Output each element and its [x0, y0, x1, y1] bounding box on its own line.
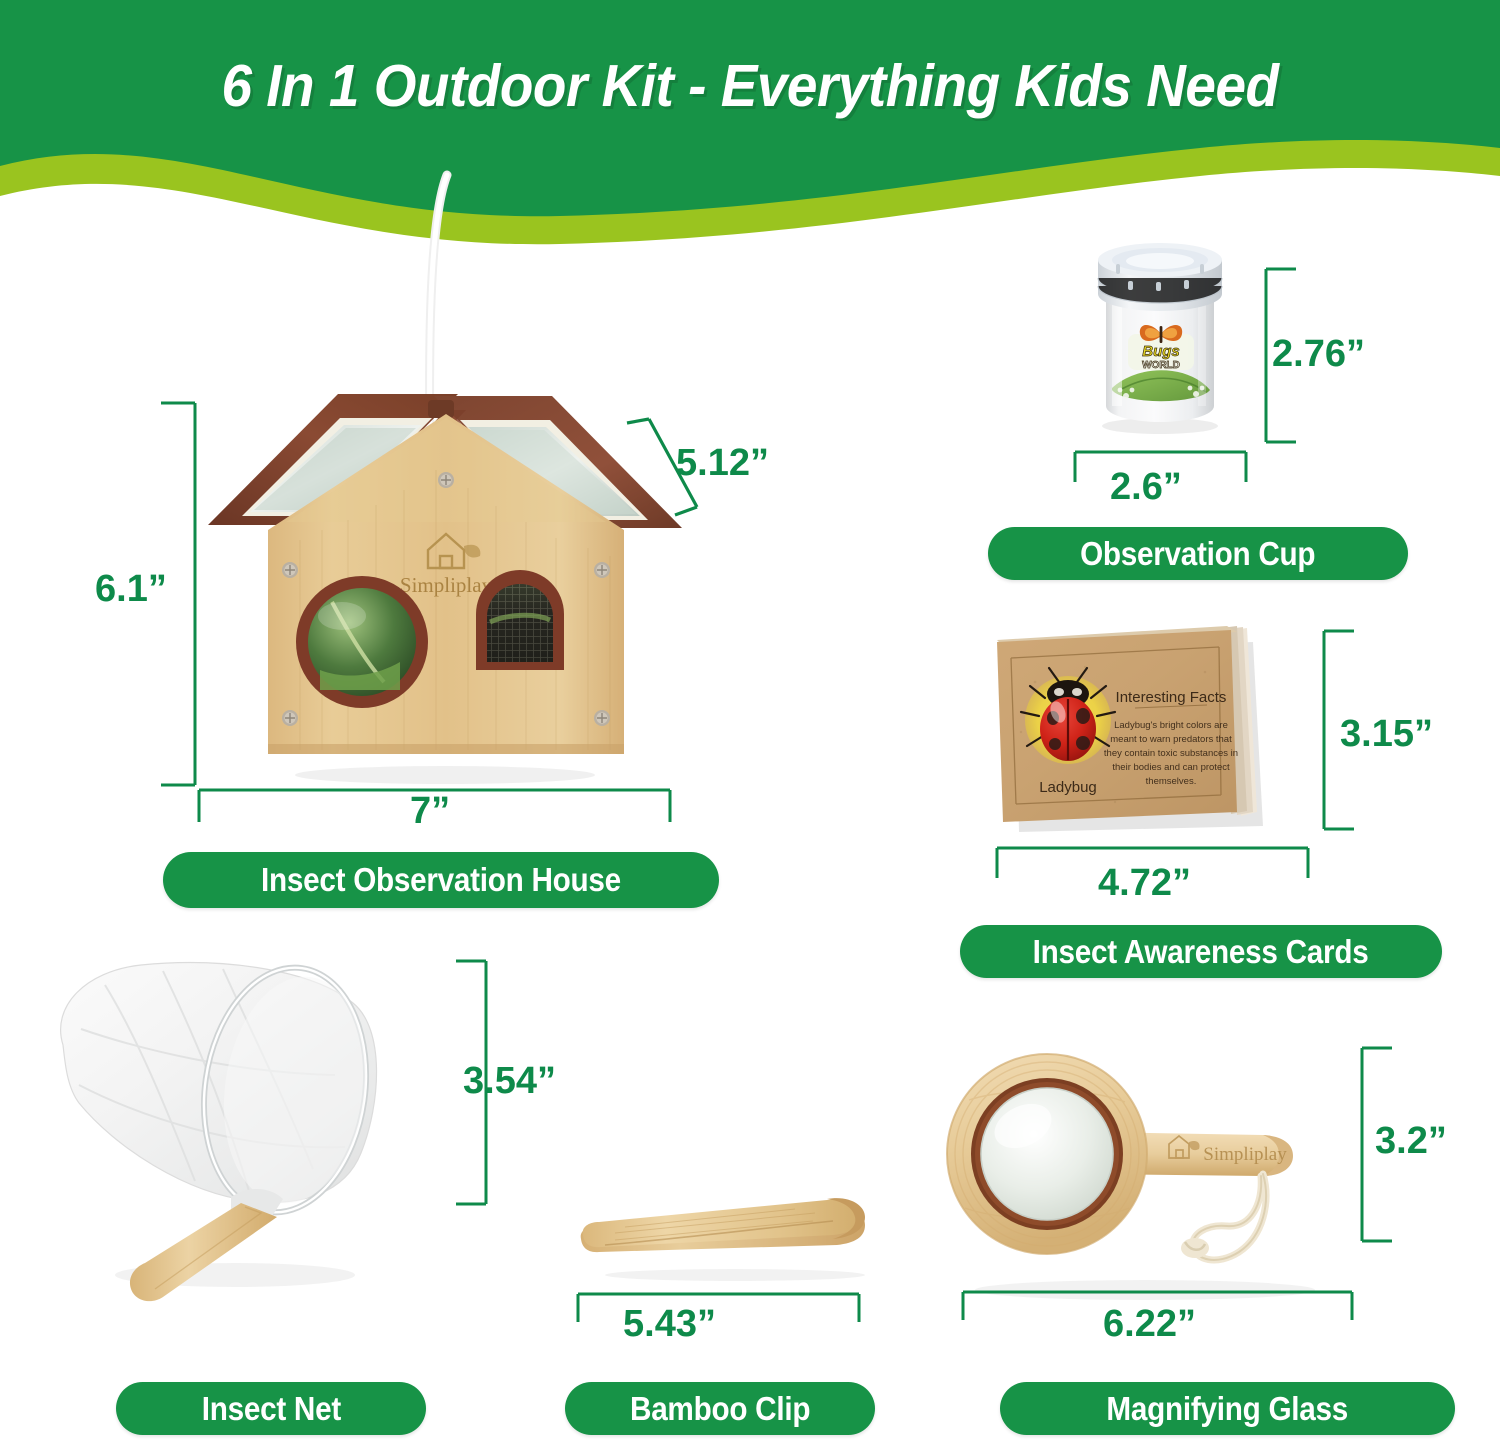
label-text: Insect Net: [201, 1390, 340, 1428]
magnifier-length-value: 6.22”: [1103, 1303, 1196, 1346]
cup-height-value: 2.76”: [1272, 333, 1365, 376]
observation-cup-image: Bugs WORLD: [1060, 238, 1260, 438]
house-roof-slope-value: 5.12”: [676, 442, 769, 485]
cards-height-value: 3.15”: [1340, 713, 1433, 756]
label-text: Insect Observation House: [261, 861, 621, 899]
insect-net-image: [45, 945, 445, 1330]
label-insect-net[interactable]: Insect Net: [116, 1382, 426, 1435]
header-banner: 6 In 1 Outdoor Kit - Everything Kids Nee…: [0, 0, 1500, 250]
svg-text:Simpliplay: Simpliplay: [1203, 1144, 1287, 1165]
cup-width-value: 2.6”: [1110, 466, 1182, 509]
svg-text:Simpliplay: Simpliplay: [400, 573, 493, 597]
house-height-value: 6.1”: [95, 568, 167, 611]
bamboo-clip-length-value: 5.43”: [623, 1303, 716, 1346]
svg-text:meant to warn predators that: meant to warn predators that: [1110, 734, 1232, 745]
svg-text:they contain toxic substances: they contain toxic substances in: [1104, 748, 1238, 759]
banner-wave-shape: [0, 0, 1500, 250]
label-insect-observation-house[interactable]: Insect Observation House: [163, 852, 719, 908]
label-magnifying-glass[interactable]: Magnifying Glass: [1000, 1382, 1455, 1435]
bamboo-clip-image: [565, 1195, 895, 1285]
svg-text:WORLD: WORLD: [1142, 360, 1180, 371]
card-heading-render: Interesting Facts: [1116, 689, 1227, 706]
label-text: Magnifying Glass: [1107, 1390, 1349, 1428]
house-width-value: 7”: [410, 790, 450, 833]
label-insect-awareness-cards[interactable]: Insect Awareness Cards: [960, 925, 1442, 978]
cards-width-value: 4.72”: [1098, 862, 1191, 905]
label-text: Bamboo Clip: [630, 1390, 810, 1428]
insect-awareness-cards-image: Interesting Facts Ladybug's bright color…: [975, 612, 1335, 842]
svg-text:Ladybug's bright colors are: Ladybug's bright colors are: [1114, 720, 1228, 731]
svg-text:themselves.: themselves.: [1146, 776, 1197, 787]
magnifying-glass-image: Simpliplay: [945, 1040, 1365, 1310]
card-caption-render: Ladybug: [1039, 779, 1097, 796]
svg-text:Bugs: Bugs: [1142, 343, 1180, 360]
label-observation-cup[interactable]: Observation Cup: [988, 527, 1408, 580]
label-text: Observation Cup: [1080, 535, 1315, 573]
svg-text:their bodies and can protect: their bodies and can protect: [1112, 762, 1230, 773]
bamboo-clip-length-dimension-line: [575, 1292, 865, 1328]
label-text: Insect Awareness Cards: [1033, 933, 1369, 971]
label-bamboo-clip[interactable]: Bamboo Clip: [565, 1382, 875, 1435]
infographic-canvas: 6 In 1 Outdoor Kit - Everything Kids Nee…: [0, 0, 1500, 1448]
page-title: 6 In 1 Outdoor Kit - Everything Kids Nee…: [53, 52, 1448, 120]
magnifier-height-value: 3.2”: [1375, 1120, 1447, 1163]
net-height-value: 3.54”: [463, 1060, 556, 1103]
